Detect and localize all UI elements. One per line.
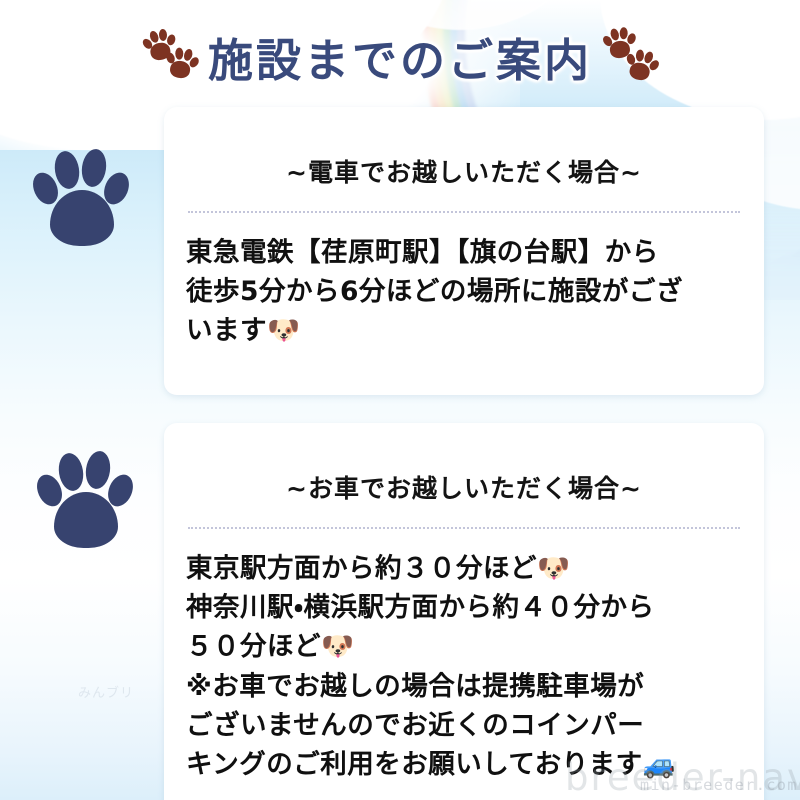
paw-print-icon: [600, 26, 658, 86]
card-body: 東急電鉄【荏原町駅】【旗の台駅】から 徒歩5分から6分ほどの場所に施設がござ い…: [186, 233, 742, 351]
paw-print-icon: [142, 26, 200, 86]
divider: [188, 211, 740, 213]
paw-print-icon: [38, 448, 134, 552]
poster-root: 施設までのご案内 ~電車でお越しいただく場合~ 東急電鉄【荏原町駅】【旗の台駅】…: [0, 0, 800, 800]
card-heading: ~お車でお越しいただく場合~: [186, 469, 742, 505]
watermark-secondary: min-breeder.com: [640, 776, 798, 794]
watermark-faint: みんブリ: [78, 682, 134, 701]
card-body-line: ございませんのでお近くのコインパー: [186, 706, 742, 745]
card-body-line: 東京駅方面から約３０分ほど🐶: [186, 549, 742, 588]
paw-print-icon: [162, 44, 200, 82]
paw-print-icon: [621, 45, 661, 85]
card-body-line: ５０分ほど🐶: [186, 627, 742, 666]
card-body-line: います🐶: [186, 311, 742, 350]
card-body: 東京駅方面から約３０分ほど🐶 神奈川駅・横浜駅方面から約４０分から ５０分ほど🐶…: [186, 549, 742, 784]
page-header: 施設までのご案内: [0, 20, 800, 92]
card-body-line: 神奈川駅・横浜駅方面から約４０分から: [186, 588, 742, 627]
paw-print-icon: [34, 146, 130, 250]
page-title: 施設までのご案内: [208, 24, 592, 89]
info-card-train: ~電車でお越しいただく場合~ 東急電鉄【荏原町駅】【旗の台駅】から 徒歩5分から…: [164, 107, 764, 395]
card-body-line: ※お車でお越しの場合は提携駐車場が: [186, 667, 742, 706]
info-card-car: ~お車でお越しいただく場合~ 東京駅方面から約３０分ほど🐶 神奈川駅・横浜駅方面…: [164, 423, 764, 800]
card-heading: ~電車でお越しいただく場合~: [186, 153, 742, 189]
divider: [188, 527, 740, 529]
card-body-line: 徒歩5分から6分ほどの場所に施設がござ: [186, 272, 742, 311]
card-body-line: 東急電鉄【荏原町駅】【旗の台駅】から: [186, 233, 742, 272]
